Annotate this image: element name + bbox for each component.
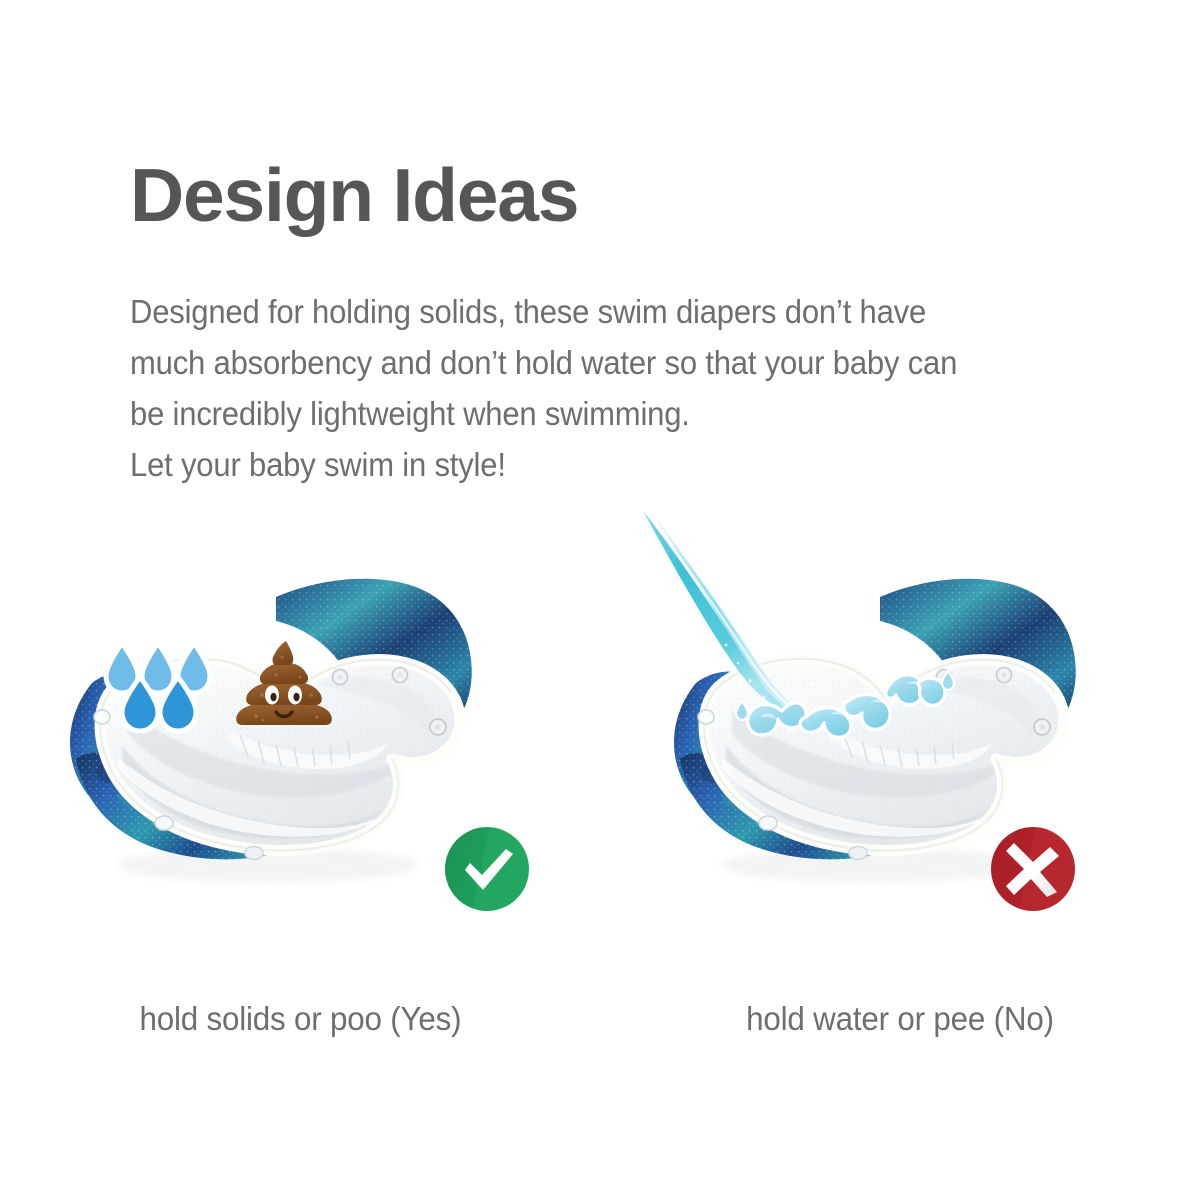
- snap-button: [393, 668, 408, 683]
- infographic-canvas: Design Ideas Designed for holding solids…: [0, 0, 1200, 1200]
- snap-button: [849, 847, 867, 860]
- product-stage: [600, 495, 1200, 915]
- panel-hold-water: hold water or pee (No): [600, 495, 1200, 1115]
- status-badge-yes: [443, 825, 531, 913]
- snap-button: [1034, 719, 1050, 735]
- snap-button: [245, 847, 263, 860]
- snap-button: [430, 719, 446, 735]
- description-line: be incredibly lightweight when swimming.: [130, 388, 1061, 439]
- product-stage: [0, 495, 600, 915]
- pile-of-poo-emoji: [232, 633, 336, 737]
- snap-button: [759, 816, 777, 830]
- panel-hold-solids: hold solids or poo (Yes): [0, 495, 600, 1115]
- water-splash-icon: [748, 675, 945, 738]
- description-block: Designed for holding solids, these swim …: [130, 286, 1120, 490]
- panel-caption-no-text: hold water or pee (No): [746, 1000, 1054, 1038]
- panel-caption-yes: hold solids or poo (Yes): [0, 1000, 600, 1038]
- water-droplet-icon-group: [100, 635, 240, 735]
- panel-caption-yes-text: hold solids or poo (Yes): [139, 1000, 461, 1038]
- description-line: Let your baby swim in style!: [130, 439, 1061, 490]
- description-line: Designed for holding solids, these swim …: [130, 286, 1061, 337]
- page-title: Design Ideas: [130, 158, 578, 233]
- status-badge-no: [989, 825, 1077, 913]
- description-line: much absorbency and don’t hold water so …: [130, 337, 1061, 388]
- water-stream-icon: [630, 505, 1010, 775]
- snap-button: [155, 816, 173, 830]
- panel-caption-no: hold water or pee (No): [600, 1000, 1200, 1038]
